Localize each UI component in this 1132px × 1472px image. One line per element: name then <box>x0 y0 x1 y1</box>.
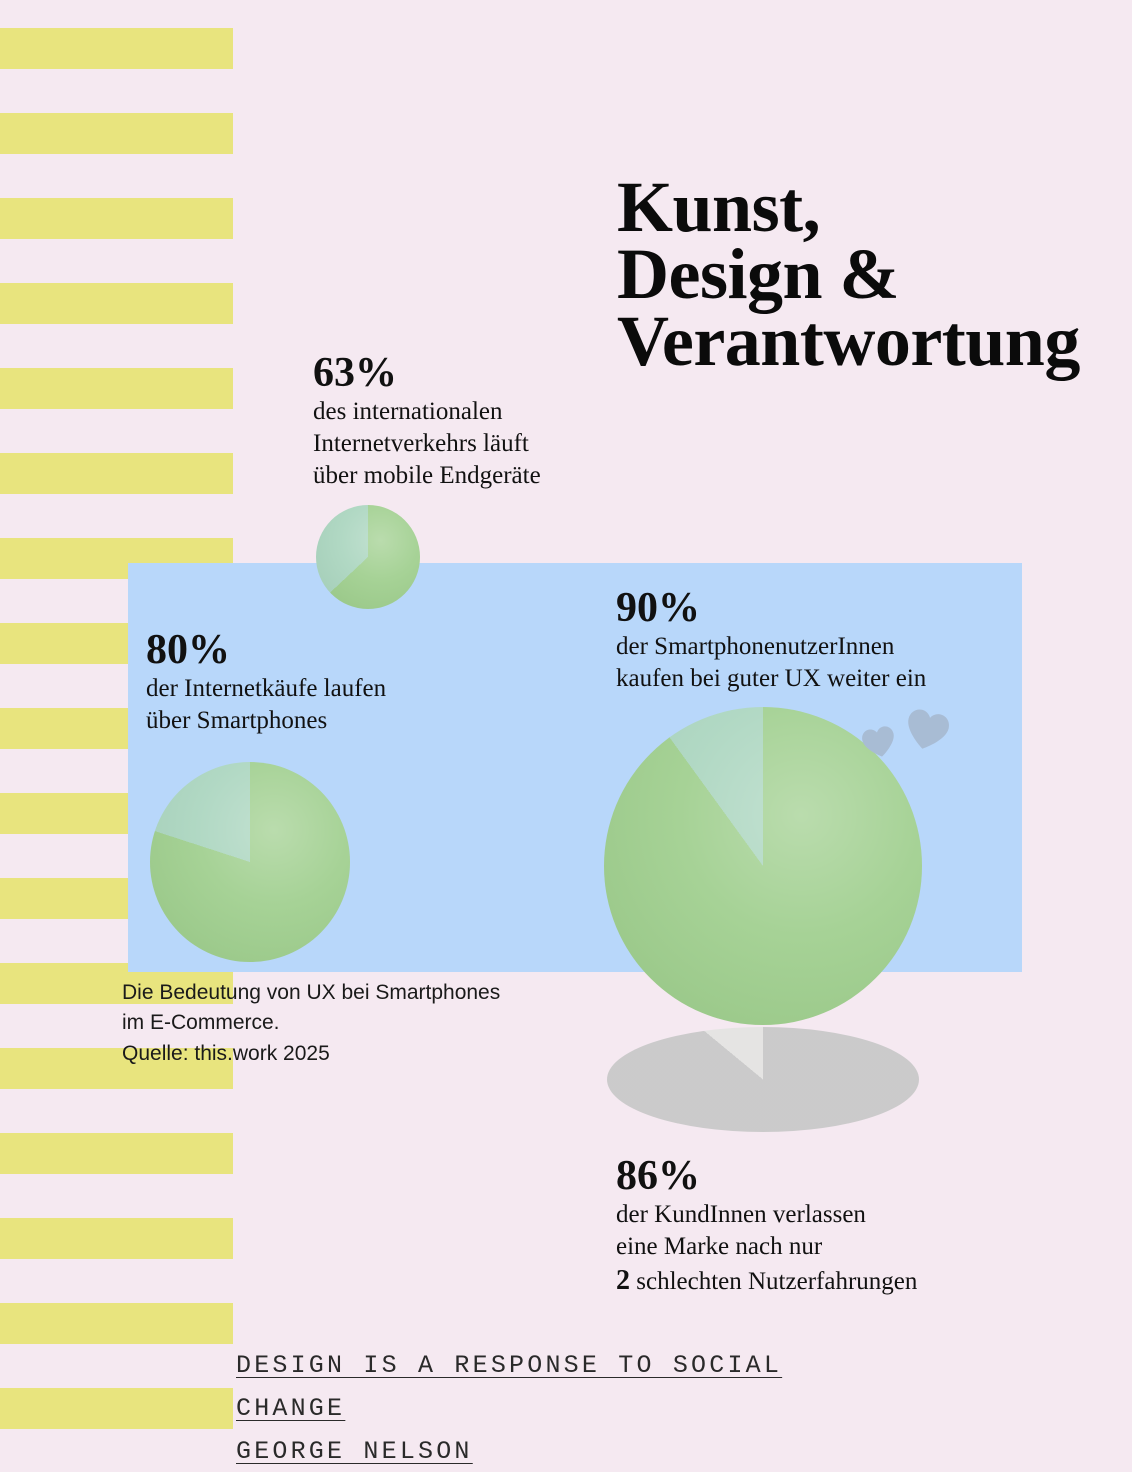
yellow-stripe <box>0 1303 233 1344</box>
stat-text-63: des internationalen Internetverkehrs läu… <box>313 396 653 493</box>
page-title: Kunst, Design & Verantwortung <box>617 174 1087 375</box>
stat-86-number: 2 <box>616 1265 630 1296</box>
pie-chart-80 <box>150 762 350 962</box>
yellow-stripe <box>0 198 233 239</box>
yellow-stripe <box>0 113 233 154</box>
stat-86-line1: der KundInnen verlassen <box>616 1201 866 1228</box>
heart-icon <box>859 722 899 762</box>
stat-value-90: 90% <box>616 587 1036 630</box>
yellow-stripe <box>0 1133 233 1174</box>
stat-86-line3: schlechten Nutzerfahrungen <box>630 1268 917 1295</box>
yellow-stripe <box>0 1218 233 1259</box>
quote-line-1-text: DESIGN IS A RESPONSE TO SOCIAL <box>236 1351 782 1380</box>
quote-line-2: CHANGE <box>236 1387 936 1430</box>
stat-value-86: 86% <box>616 1155 1046 1198</box>
poster-canvas: Kunst, Design & Verantwortung 63% des in… <box>0 0 1132 1472</box>
pie-chart-86-shadow <box>607 1027 919 1132</box>
pie-gloss <box>150 762 350 962</box>
quote-line-1: DESIGN IS A RESPONSE TO SOCIAL <box>236 1344 936 1387</box>
stat-value-80: 80% <box>146 629 506 672</box>
quote-author: GEORGE NELSON <box>236 1430 936 1472</box>
stat-text-80: der Internetkäufe laufen über Smartphone… <box>146 673 506 738</box>
yellow-stripe <box>0 368 233 409</box>
pie-chart-63 <box>316 505 420 609</box>
stat-block-90: 90% der SmartphonenutzerInnen kaufen bei… <box>616 587 1036 695</box>
stat-text-86: der KundInnen verlassen eine Marke nach … <box>616 1199 1046 1300</box>
stat-block-86: 86% der KundInnen verlassen eine Marke n… <box>616 1155 1046 1299</box>
stat-block-63: 63% des internationalen Internetverkehrs… <box>313 352 653 493</box>
stat-text-90: der SmartphonenutzerInnen kaufen bei gut… <box>616 631 1036 696</box>
yellow-stripe <box>0 453 233 494</box>
source-caption: Die Bedeutung von UX bei Smartphones im … <box>122 978 592 1069</box>
stat-block-80: 80% der Internetkäufe laufen über Smartp… <box>146 629 506 737</box>
pie-gloss <box>316 505 420 609</box>
quote-block: DESIGN IS A RESPONSE TO SOCIAL CHANGE GE… <box>236 1344 936 1472</box>
quote-author-text: GEORGE NELSON <box>236 1437 473 1466</box>
stat-value-63: 63% <box>313 352 653 395</box>
quote-line-2-text: CHANGE <box>236 1394 345 1423</box>
yellow-stripe <box>0 1388 233 1429</box>
yellow-stripe <box>0 28 233 69</box>
yellow-stripe <box>0 283 233 324</box>
stat-86-line2: eine Marke nach nur <box>616 1233 822 1260</box>
